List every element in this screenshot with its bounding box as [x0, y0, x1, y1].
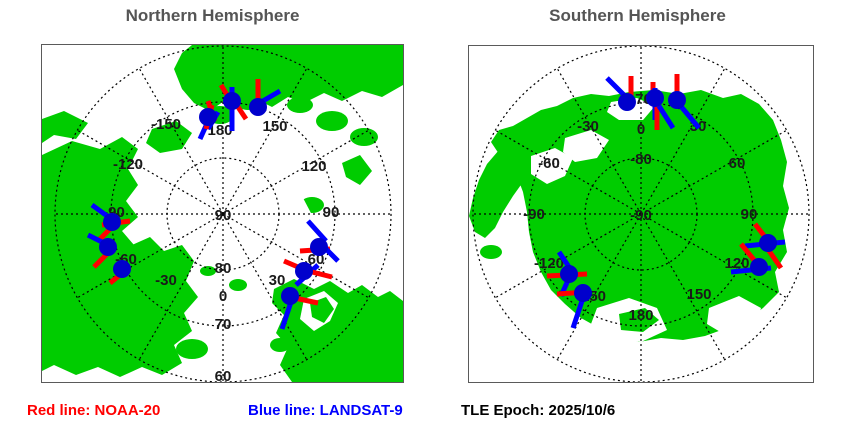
lon-label-90: 90: [323, 204, 340, 221]
lon-label-neg120: -120: [534, 255, 564, 272]
lat-label-60: 60: [215, 368, 232, 382]
lon-label-0: 0: [637, 121, 645, 138]
lat-label-90: 90: [215, 207, 232, 224]
satellite-marker: [199, 108, 217, 126]
legend-tle-epoch: TLE Epoch: 2025/10/6: [461, 402, 615, 419]
satellite-marker: [574, 284, 592, 302]
southern-hemisphere-panel: Southern Hemisphere: [425, 0, 850, 390]
satellite-marker: [99, 238, 117, 256]
lat-label-70: 70: [215, 316, 232, 333]
satellite-marker: [223, 92, 241, 110]
satellite-marker: [249, 98, 267, 116]
polar-plot-south: -60 -70 0 -80 -90 -30 30 -60 60 -90 90 -…: [468, 45, 814, 383]
lon-label-90: 90: [741, 206, 758, 223]
polar-plot-north: 180 -150 150 -120 120 -90 90 -60 60 -30 …: [41, 44, 404, 383]
lat-label-neg80: -80: [630, 151, 652, 168]
lon-label-30: 30: [269, 272, 286, 289]
satellite-marker: [310, 238, 328, 256]
satellite-marker: [295, 262, 313, 280]
lon-label-0: 0: [219, 288, 227, 305]
lon-label-60: 60: [729, 155, 746, 172]
satellite-marker: [646, 89, 664, 107]
lon-label-150: 150: [262, 118, 287, 135]
lon-label-neg120: -120: [113, 156, 143, 173]
satellite-marker: [750, 258, 768, 276]
lon-label-neg30: -30: [577, 118, 599, 135]
satellite-marker: [103, 213, 121, 231]
satellite-marker: [281, 287, 299, 305]
northern-hemisphere-panel: Northern Hemisphere: [0, 0, 425, 390]
lon-label-neg30: -30: [155, 272, 177, 289]
legend-blue-line: Blue line: LANDSAT-9: [248, 402, 403, 419]
legend-red-line: Red line: NOAA-20: [27, 402, 160, 419]
lat-label-neg60-top: -60: [630, 46, 652, 48]
satellite-marker: [618, 93, 636, 111]
lon-label-neg150: -150: [151, 116, 181, 133]
page-title-south: Southern Hemisphere: [425, 6, 850, 26]
north-map-svg: 180 -150 150 -120 120 -90 90 -60 60 -30 …: [42, 45, 403, 382]
satellite-marker: [113, 260, 131, 278]
lon-label-150: 150: [686, 286, 711, 303]
page-title-north: Northern Hemisphere: [0, 6, 425, 26]
satellite-marker: [759, 234, 777, 252]
lat-label-neg90: -90: [630, 207, 652, 224]
satellite-marker: [668, 91, 686, 109]
south-map-svg: -60 -70 0 -80 -90 -30 30 -60 60 -90 90 -…: [469, 46, 813, 382]
lon-label-neg90: -90: [523, 206, 545, 223]
lon-label-180: 180: [628, 307, 653, 324]
lon-label-neg60: -60: [538, 155, 560, 172]
satellite-marker: [560, 265, 578, 283]
lon-label-120: 120: [301, 158, 326, 175]
lat-label-80: 80: [215, 260, 232, 277]
